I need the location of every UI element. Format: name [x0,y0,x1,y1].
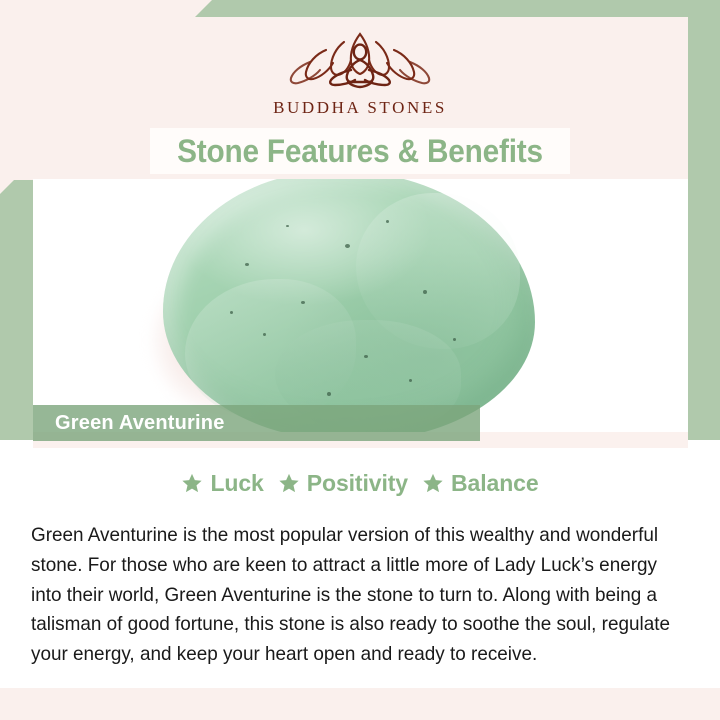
lotus-meditation-icon [276,22,444,94]
stone-inclusion [301,301,305,304]
star-icon [278,472,300,494]
stone-inclusion [364,355,368,358]
benefits-row: Luck Positivity Balance [0,466,720,500]
stone-inclusion [409,379,412,382]
stone-name-label: Green Aventurine [55,405,225,441]
stone-description: Green Aventurine is the most popular ver… [31,521,676,669]
benefit-item: Balance [422,470,539,497]
benefit-label: Luck [210,470,263,497]
stone-inclusion [286,225,289,227]
benefit-label: Positivity [307,470,408,497]
star-icon [422,472,444,494]
benefit-item: Positivity [278,470,408,497]
page-title: Stone Features & Benefits [25,128,695,174]
accent-bar-left [0,180,33,462]
benefit-item: Luck [181,470,263,497]
aventurine-stone [163,179,535,441]
brand-wordmark: BUDDHA STONES [273,98,447,118]
header: BUDDHA STONES Stone Features & Benefits [0,0,720,180]
infographic-page: BUDDHA STONES Stone Features & Benefits [0,0,720,720]
benefit-label: Balance [451,470,539,497]
product-image [33,179,688,441]
bottom-cream-strip [0,688,720,720]
brand-logo: BUDDHA STONES [0,22,720,118]
star-icon [181,472,203,494]
stone-inclusion [245,263,249,266]
stone-inclusion [386,220,389,223]
